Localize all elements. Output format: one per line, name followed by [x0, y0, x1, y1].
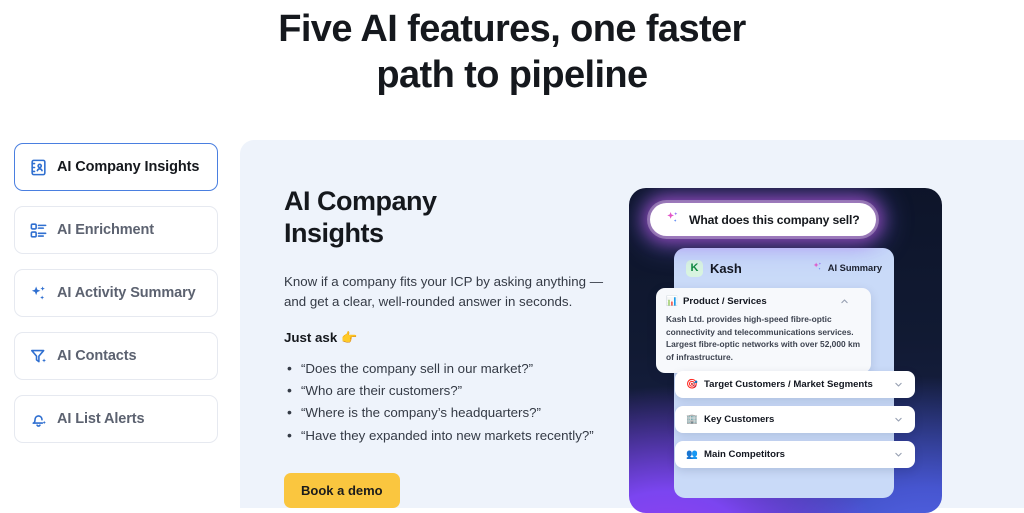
section-header: 📊 Product / Services	[666, 296, 861, 307]
feature-illustration: What does this company sell? K Kash	[610, 140, 1024, 508]
sidebar-item-ai-company-insights[interactable]: AI Company Insights	[14, 143, 218, 191]
feature-description: Know if a company fits your ICP by askin…	[284, 272, 610, 313]
company-brand: K Kash	[686, 260, 742, 277]
company-card-header: K Kash AI Summary	[684, 257, 884, 277]
feature-section: AI Company Insights AI Enrichment AI	[0, 140, 1024, 508]
section-body-text: Kash Ltd. provides high-speed fibre-opti…	[666, 313, 861, 363]
page-title-line-1: Five AI features, one faster	[278, 8, 746, 50]
section-title: Product / Services	[683, 296, 834, 307]
sidebar-item-label: AI Enrichment	[57, 222, 154, 238]
feature-panel: AI Company Insights Know if a company fi…	[240, 140, 1024, 508]
chevron-down-icon[interactable]	[894, 450, 903, 459]
section-product-services[interactable]: 📊 Product / Services Kash Ltd. provides …	[656, 288, 871, 373]
ai-summary-badge: AI Summary	[812, 259, 882, 277]
list-item: “Who are their customers?”	[284, 381, 610, 401]
ai-search-pill[interactable]: What does this company sell?	[650, 203, 876, 236]
pointing-right-icon: 👉	[341, 330, 357, 345]
sidebar-item-ai-list-alerts[interactable]: AI List Alerts	[14, 395, 218, 443]
contact-card-icon	[29, 158, 48, 177]
people-icon: 👥	[686, 449, 697, 460]
just-ask-text: Just ask	[284, 330, 337, 345]
building-icon: 🏢	[686, 414, 697, 425]
filter-funnel-sparkle-icon	[29, 347, 48, 366]
list-detail-icon	[29, 221, 48, 240]
sidebar-item-label: AI List Alerts	[57, 411, 145, 427]
search-query-text: What does this company sell?	[689, 213, 860, 227]
feature-title: AI Company Insights	[284, 186, 514, 250]
example-question-list: “Does the company sell in our market?” “…	[284, 359, 610, 446]
company-name: Kash	[710, 261, 742, 276]
section-main-competitors[interactable]: 👥 Main Competitors	[675, 441, 915, 468]
bell-sparkle-icon	[29, 410, 48, 429]
chevron-down-icon[interactable]	[894, 415, 903, 424]
section-target-customers[interactable]: 🎯 Target Customers / Market Segments	[675, 371, 915, 398]
feature-tab-list: AI Company Insights AI Enrichment AI	[0, 140, 236, 508]
list-item: “Have they expanded into new markets rec…	[284, 426, 610, 446]
chevron-up-icon[interactable]	[840, 297, 849, 306]
section-title: Key Customers	[704, 414, 887, 425]
just-ask-label: Just ask 👉	[284, 330, 610, 346]
page-title-line-2: path to pipeline	[0, 52, 1024, 98]
sparkles-icon	[29, 284, 48, 303]
list-item: “Does the company sell in our market?”	[284, 359, 610, 379]
page-title: Five AI features, one faster path to pip…	[0, 0, 1024, 99]
target-icon: 🎯	[686, 379, 697, 390]
sidebar-item-ai-enrichment[interactable]: AI Enrichment	[14, 206, 218, 254]
feature-copy: AI Company Insights Know if a company fi…	[240, 140, 610, 508]
sidebar-item-label: AI Contacts	[57, 348, 136, 364]
sparkles-icon	[812, 259, 823, 277]
sidebar-item-label: AI Activity Summary	[57, 285, 196, 301]
section-title: Main Competitors	[704, 449, 887, 460]
section-title: Target Customers / Market Segments	[704, 379, 887, 390]
list-item: “Where is the company’s headquarters?”	[284, 403, 610, 423]
factory-icon: 📊	[666, 296, 677, 307]
sparkles-icon	[665, 210, 680, 230]
chevron-down-icon[interactable]	[894, 380, 903, 389]
sidebar-item-ai-contacts[interactable]: AI Contacts	[14, 332, 218, 380]
ai-summary-label: AI Summary	[828, 263, 882, 273]
product-mockup: What does this company sell? K Kash	[629, 188, 942, 513]
sidebar-item-label: AI Company Insights	[57, 159, 199, 175]
company-logo: K	[686, 260, 703, 277]
book-a-demo-button[interactable]: Book a demo	[284, 473, 400, 508]
section-key-customers[interactable]: 🏢 Key Customers	[675, 406, 915, 433]
sidebar-item-ai-activity-summary[interactable]: AI Activity Summary	[14, 269, 218, 317]
